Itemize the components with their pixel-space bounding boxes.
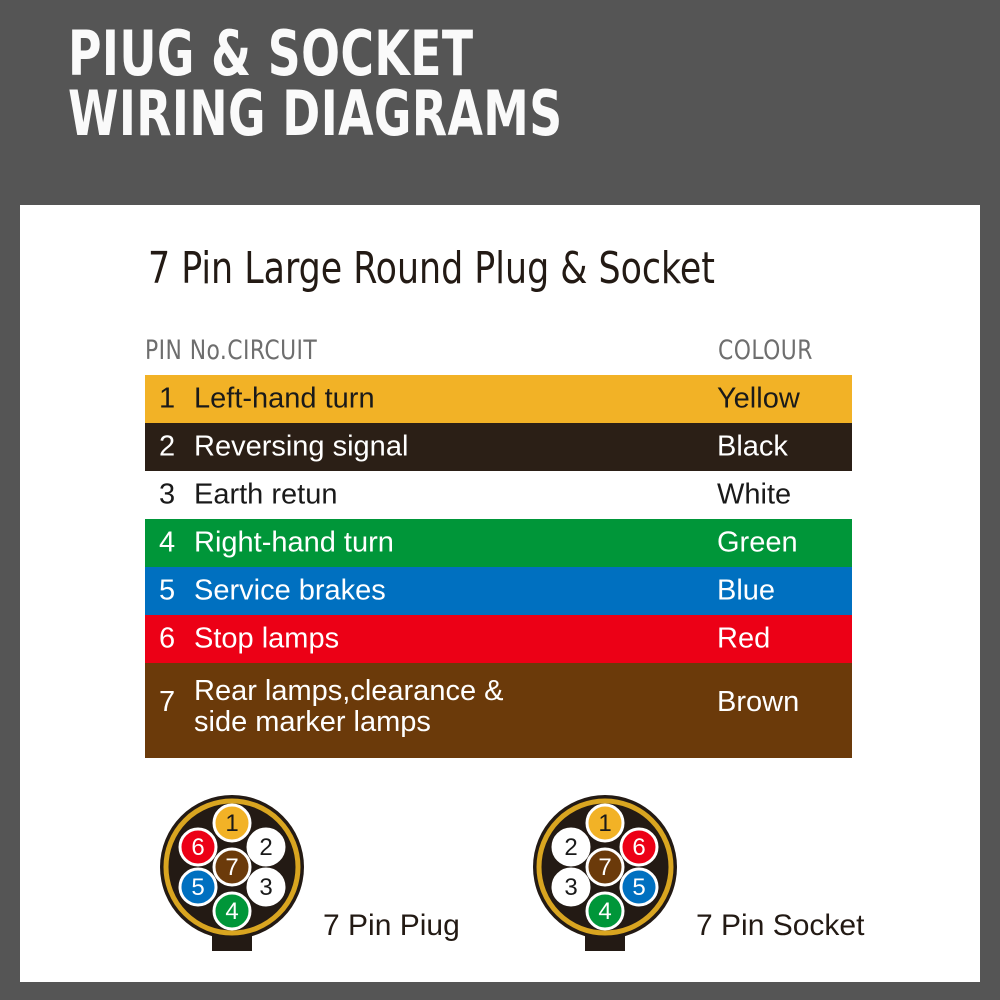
row-colour-name: Black	[717, 433, 788, 462]
plug-connector-face: 1234567	[155, 787, 310, 964]
socket-pin-7: 7	[587, 849, 623, 885]
socket-pin-4: 4	[587, 893, 623, 929]
plug-pin-7: 7	[214, 849, 250, 885]
plug-pin-5-label: 5	[191, 874, 204, 901]
table-row: 7Rear lamps,clearance & side marker lamp…	[145, 663, 852, 758]
row-colour-name: Red	[717, 625, 770, 654]
row-colour-name: Yellow	[717, 385, 800, 414]
socket-pin-6-label: 6	[632, 834, 645, 861]
socket-pin-5-label: 5	[632, 874, 645, 901]
row-circuit-name: Earth retun	[194, 479, 337, 510]
row-pin-number: 5	[159, 577, 175, 606]
plug-pin-2-label: 2	[259, 834, 272, 861]
socket-pin-6: 6	[621, 829, 657, 865]
row-circuit-name: Rear lamps,clearance & side marker lamps	[194, 676, 503, 739]
row-circuit-name: Left-hand turn	[194, 383, 375, 414]
row-pin-number: 6	[159, 625, 175, 654]
table-row: 1Left-hand turnYellow	[145, 375, 852, 423]
column-header-colour: COLOUR	[718, 335, 813, 366]
plug-pin-3: 3	[248, 869, 284, 905]
socket-face-svg: 1234567	[528, 787, 683, 959]
socket-pin-2-label: 2	[564, 834, 577, 861]
wiring-diagram-page: PIUG & SOCKET WIRING DIAGRAMS 7 Pin Larg…	[0, 0, 1000, 1000]
row-circuit-name: Right-hand turn	[194, 527, 394, 558]
socket-pin-3: 3	[553, 869, 589, 905]
table-row: 5Service brakesBlue	[145, 567, 852, 615]
row-circuit-name: Stop lamps	[194, 623, 339, 654]
pin-table-header: PIN No.CIRCUIT COLOUR	[145, 335, 852, 375]
content-card: 7 Pin Large Round Plug & Socket PIN No.C…	[20, 205, 980, 982]
row-circuit-name: Reversing signal	[194, 431, 408, 462]
row-pin-number: 1	[159, 385, 175, 414]
socket-pin-1: 1	[587, 805, 623, 841]
plug-pin-7-label: 7	[225, 854, 238, 881]
column-header-circuit: PIN No.CIRCUIT	[145, 335, 317, 366]
diagram-subtitle: 7 Pin Large Round Plug & Socket	[148, 243, 715, 294]
pin-table-body: 1Left-hand turnYellow2Reversing signalBl…	[145, 375, 852, 758]
row-colour-name: Green	[717, 529, 798, 558]
row-pin-number: 7	[159, 688, 175, 717]
plug-face-svg: 1234567	[155, 787, 310, 959]
row-circuit-name: Service brakes	[194, 575, 386, 606]
socket-connector-face: 1234567	[528, 787, 683, 964]
pin-table: PIN No.CIRCUIT COLOUR 1Left-hand turnYel…	[145, 335, 852, 758]
socket-pin-5: 5	[621, 869, 657, 905]
table-row: 3Earth retunWhite	[145, 471, 852, 519]
socket-pin-7-label: 7	[598, 854, 611, 881]
page-title: PIUG & SOCKET WIRING DIAGRAMS	[68, 24, 740, 143]
socket-connector-diagram: 1234567 7 Pin Socket	[528, 787, 683, 964]
socket-pin-4-label: 4	[598, 898, 611, 925]
socket-pin-1-label: 1	[598, 810, 611, 837]
plug-pin-1-label: 1	[225, 810, 238, 837]
table-row: 2Reversing signalBlack	[145, 423, 852, 471]
row-colour-name: Blue	[717, 577, 775, 606]
socket-connector-label: 7 Pin Socket	[696, 909, 864, 943]
table-row: 4Right-hand turnGreen	[145, 519, 852, 567]
plug-pin-1: 1	[214, 805, 250, 841]
row-pin-number: 4	[159, 529, 175, 558]
socket-pin-3-label: 3	[564, 874, 577, 901]
plug-pin-6: 6	[180, 829, 216, 865]
plug-connector-diagram: 1234567 7 Pin Piug	[155, 787, 310, 964]
row-pin-number: 2	[159, 433, 175, 462]
table-row: 6Stop lampsRed	[145, 615, 852, 663]
plug-connector-label: 7 Pin Piug	[323, 909, 460, 943]
row-colour-name: White	[717, 481, 791, 510]
row-colour-name: Brown	[717, 688, 799, 717]
plug-pin-3-label: 3	[259, 874, 272, 901]
row-pin-number: 3	[159, 481, 175, 510]
page-header: PIUG & SOCKET WIRING DIAGRAMS	[0, 0, 1000, 205]
plug-pin-6-label: 6	[191, 834, 204, 861]
plug-pin-4: 4	[214, 893, 250, 929]
plug-pin-5: 5	[180, 869, 216, 905]
socket-pin-2: 2	[553, 829, 589, 865]
plug-pin-2: 2	[248, 829, 284, 865]
plug-pin-4-label: 4	[225, 898, 238, 925]
